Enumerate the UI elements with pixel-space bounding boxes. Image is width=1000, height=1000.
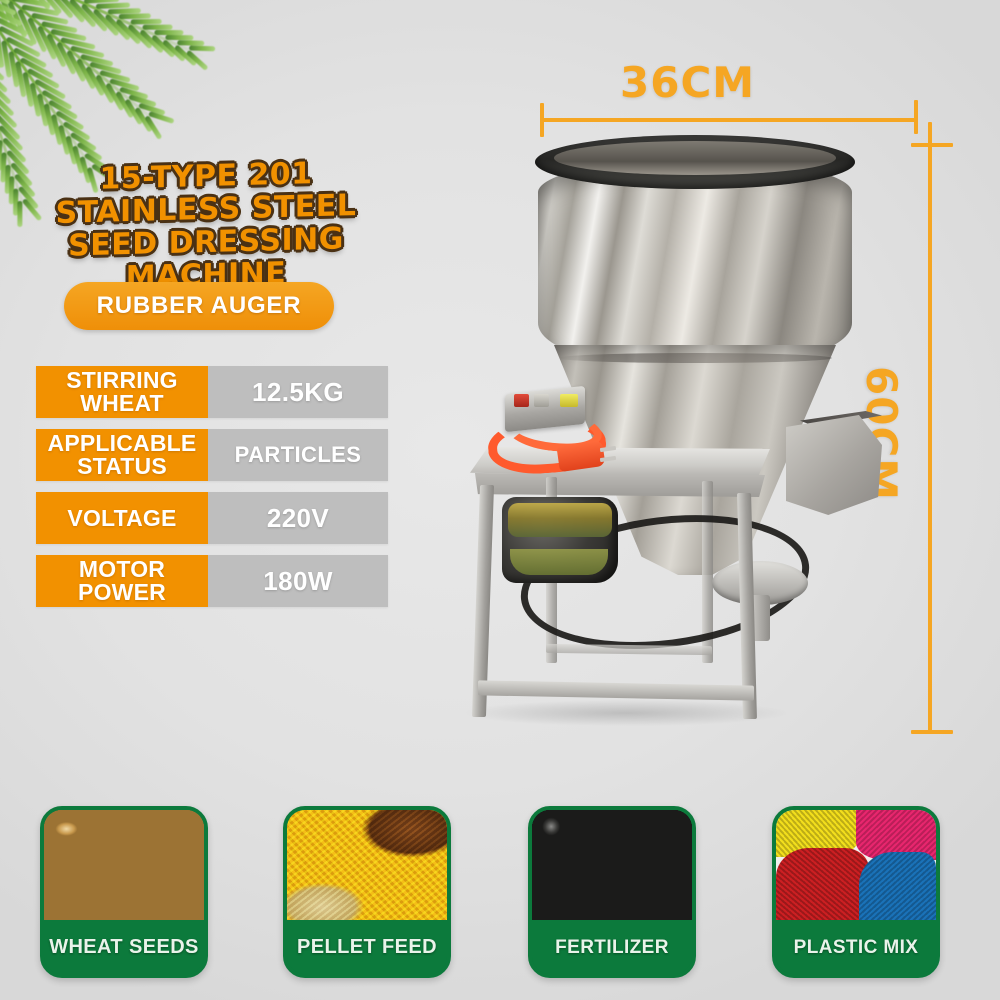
table-row: VOLTAGE 220V [36, 492, 388, 544]
card-label-wheat-seeds: WHEAT SEEDS [44, 920, 204, 974]
card-label-fertilizer: FERTILIZER [532, 920, 692, 974]
product-photo-seed-dressing-machine [450, 125, 920, 745]
list-item: PELLET FEED [283, 806, 451, 978]
motor-stator-coil-lower [510, 549, 608, 575]
hopper-upper-drum [538, 159, 852, 369]
indicator-lamp-icon [560, 394, 578, 407]
list-item: PLASTIC MIX [772, 806, 940, 978]
hopper-opening [554, 141, 836, 175]
spec-value-motor-power: 180W [208, 555, 388, 607]
plastic-granule-blue [859, 852, 936, 928]
spec-table: STIRRING WHEAT 12.5KG APPLICABLE STATUS … [36, 366, 388, 618]
card-label-plastic-mix: PLASTIC MIX [776, 920, 936, 974]
page-title: 15-TYPE 201 STAINLESS STEEL SEED DRESSIN… [6, 155, 406, 297]
width-dimension-label: 36CM [620, 58, 755, 107]
width-dimension-line [540, 118, 918, 122]
table-row: MOTOR POWER 180W [36, 555, 388, 607]
card-label-pellet-feed: PELLET FEED [287, 920, 447, 974]
table-row: APPLICABLE STATUS PARTICLES [36, 429, 388, 481]
list-item: WHEAT SEEDS [40, 806, 208, 978]
spec-key-applicable-status: APPLICABLE STATUS [36, 429, 208, 481]
product-banner: 15-TYPE 201 STAINLESS STEEL SEED DRESSIN… [0, 0, 1000, 1000]
spec-value-stirring-wheat: 12.5KG [208, 366, 388, 418]
status-badge: RUBBER AUGER [64, 282, 334, 330]
frame-table-apron [472, 473, 768, 497]
badge-label: RUBBER AUGER [97, 292, 302, 320]
discharge-chute [786, 415, 882, 515]
spec-key-stirring-wheat: STIRRING WHEAT [36, 366, 208, 418]
spec-key-motor-power: MOTOR POWER [36, 555, 208, 607]
list-item: FERTILIZER [528, 806, 696, 978]
pellet-feed-photo [287, 810, 447, 928]
wheat-seeds-photo [44, 810, 204, 928]
plastic-mix-photo [776, 810, 936, 928]
spec-value-voltage: 220V [208, 492, 388, 544]
spec-value-applicable-status: PARTICLES [208, 429, 388, 481]
power-on-button-icon [514, 394, 529, 407]
weld-seam [558, 353, 832, 363]
frame-rail-middle [546, 644, 712, 655]
power-off-button-icon [534, 394, 549, 407]
motor-stator-coil [508, 503, 612, 537]
height-dimension-line [928, 122, 932, 734]
table-row: STIRRING WHEAT 12.5KG [36, 366, 388, 418]
ground-shadow [466, 700, 786, 726]
plastic-granule-red [776, 848, 869, 928]
application-card-list: WHEAT SEEDS PELLET FEED FERTILIZER [0, 800, 1000, 1000]
fertilizer-photo [532, 810, 692, 928]
frame-rail-lower [478, 680, 754, 700]
spec-key-voltage: VOLTAGE [36, 492, 208, 544]
